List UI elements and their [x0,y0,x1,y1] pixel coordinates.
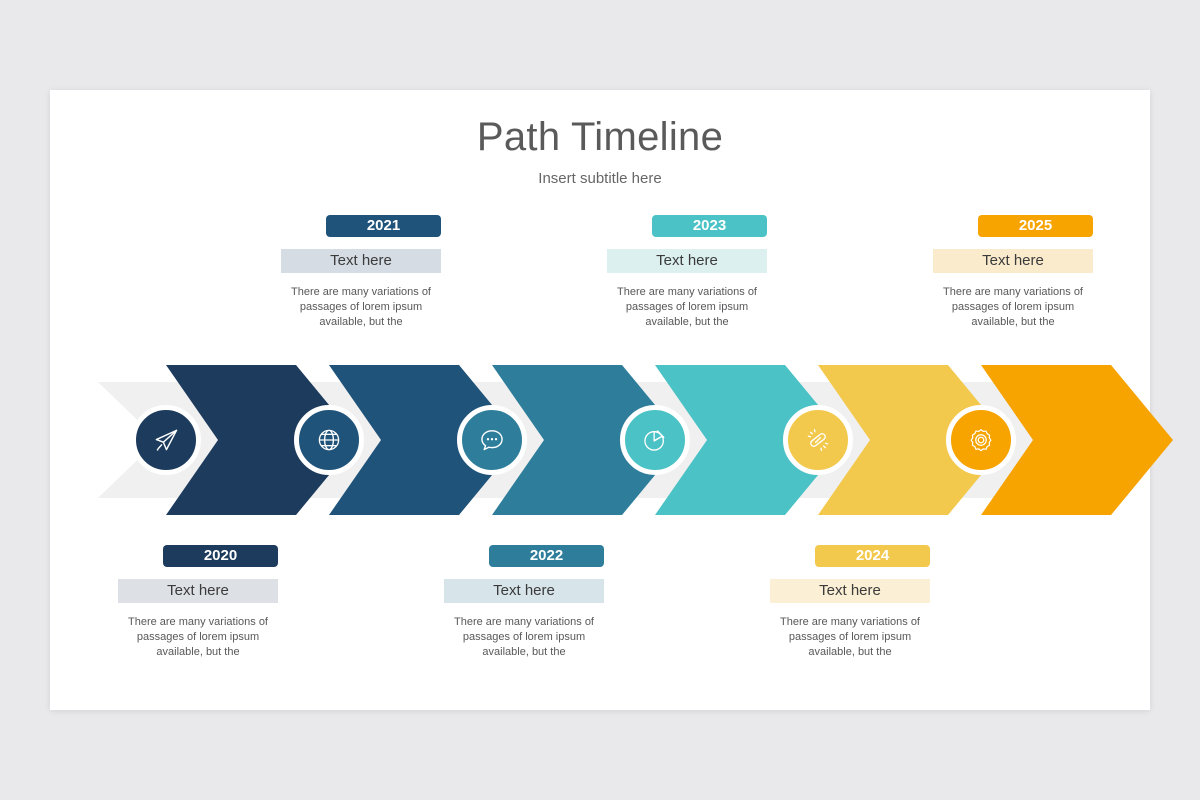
timeline-step-block-2021: 2021Text hereThere are many variations o… [281,215,441,330]
year-badge-2025[interactable]: 2025 [978,215,1093,237]
timeline-step-block-2024: 2024Text hereThere are many variations o… [770,545,930,660]
step-heading-2022[interactable]: Text here [444,579,604,603]
step-icon-badge-5[interactable] [783,405,853,475]
timeline-step-block-2020: 2020Text hereThere are many variations o… [118,545,278,660]
year-badge-2020[interactable]: 2020 [163,545,278,567]
step-icon-badge-4[interactable] [620,405,690,475]
step-icon-badge-1[interactable] [131,405,201,475]
step-icon-badge-3[interactable] [457,405,527,475]
page-title: Path Timeline [50,115,1150,160]
step-heading-2021[interactable]: Text here [281,249,441,273]
step-body-2021: There are many variations of passages of… [281,285,441,330]
step-heading-2020[interactable]: Text here [118,579,278,603]
timeline-step-block-2025: 2025Text hereThere are many variations o… [933,215,1093,330]
step-heading-2025[interactable]: Text here [933,249,1093,273]
slide-canvas: Path Timeline Insert subtitle here 2020T… [50,90,1150,710]
step-heading-2023[interactable]: Text here [607,249,767,273]
step-body-2023: There are many variations of passages of… [607,285,767,330]
timeline-chevron-band [50,365,1150,515]
paper-plane-icon [152,426,180,454]
step-body-2020: There are many variations of passages of… [118,615,278,660]
page-subtitle: Insert subtitle here [50,170,1150,187]
gear-icon [967,426,995,454]
year-badge-2021[interactable]: 2021 [326,215,441,237]
step-icon-badge-2[interactable] [294,405,364,475]
step-icon-badge-6[interactable] [946,405,1016,475]
chat-bubble-icon [478,426,506,454]
year-badge-2022[interactable]: 2022 [489,545,604,567]
year-badge-2023[interactable]: 2023 [652,215,767,237]
globe-icon [315,426,343,454]
step-body-2022: There are many variations of passages of… [444,615,604,660]
timeline-step-block-2022: 2022Text hereThere are many variations o… [444,545,604,660]
timeline-step-block-2023: 2023Text hereThere are many variations o… [607,215,767,330]
step-heading-2024[interactable]: Text here [770,579,930,603]
link-icon [804,426,832,454]
step-body-2024: There are many variations of passages of… [770,615,930,660]
step-body-2025: There are many variations of passages of… [933,285,1093,330]
year-badge-2024[interactable]: 2024 [815,545,930,567]
pie-chart-icon [641,426,669,454]
